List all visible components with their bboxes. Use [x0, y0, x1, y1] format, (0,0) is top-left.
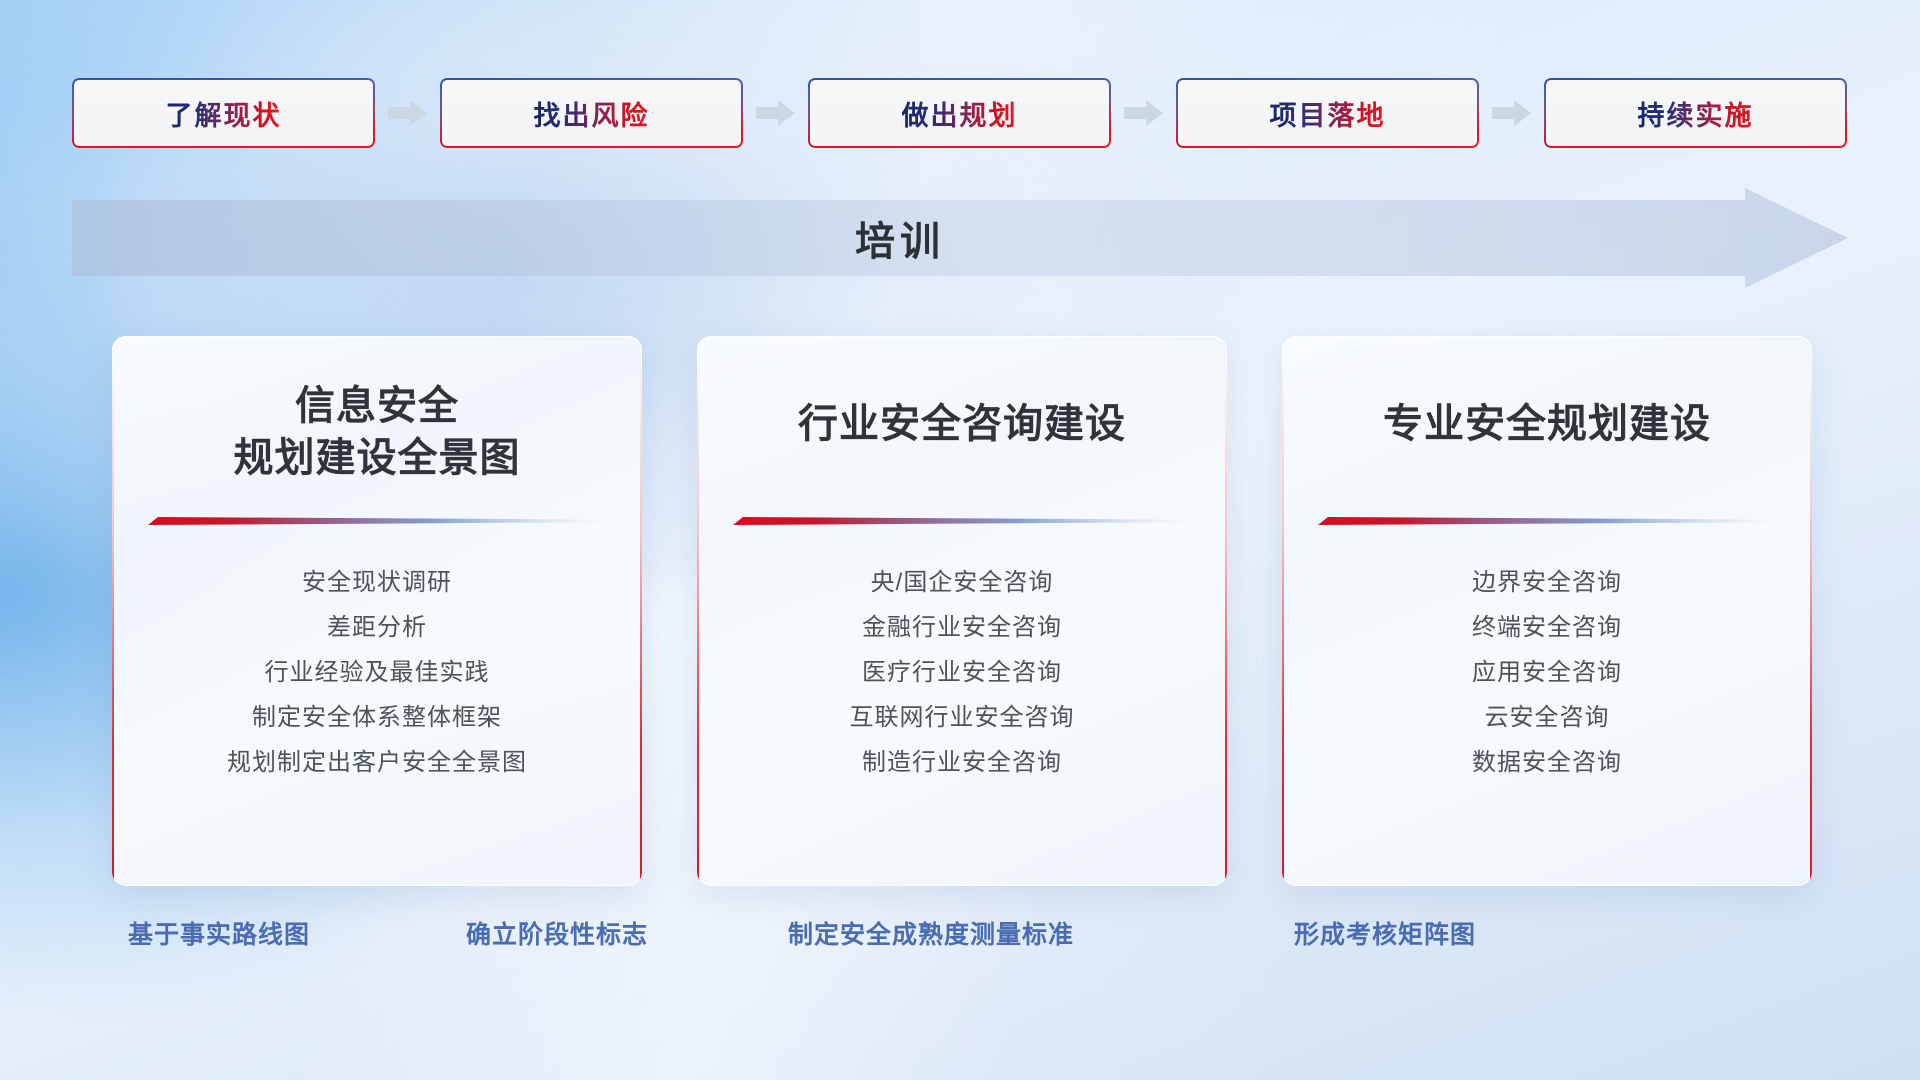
list-item: 数据安全咨询 [1306, 740, 1788, 785]
process-step-row: 了解现状找出风险做出规划项目落地持续实施 [72, 78, 1848, 148]
step-label: 做出规划 [902, 94, 1018, 133]
gradient-divider-icon [148, 514, 606, 530]
step-label: 了解现状 [166, 94, 282, 133]
step-box-5[interactable]: 持续实施 [1544, 78, 1847, 148]
arrow-right-icon [375, 78, 440, 148]
list-item: 差距分析 [136, 605, 618, 650]
card-title: 专业安全规划建设 [1282, 398, 1812, 450]
card-1[interactable]: 信息安全 规划建设全景图安全现状调研差距分析行业经验及最佳实践制定安全体系整体框… [112, 336, 642, 886]
gradient-divider-icon [733, 514, 1191, 530]
card-title: 信息安全 规划建设全景图 [112, 380, 642, 484]
step-box-3[interactable]: 做出规划 [808, 78, 1111, 148]
arrow-right-icon [1111, 78, 1176, 148]
arrow-right-icon [743, 78, 808, 148]
card-list: 央/国企安全咨询金融行业安全咨询医疗行业安全咨询互联网行业安全咨询制造行业安全咨… [721, 560, 1203, 786]
card-row: 信息安全 规划建设全景图安全现状调研差距分析行业经验及最佳实践制定安全体系整体框… [112, 336, 1812, 886]
list-item: 应用安全咨询 [1306, 650, 1788, 695]
card-2[interactable]: 行业安全咨询建设央/国企安全咨询金融行业安全咨询医疗行业安全咨询互联网行业安全咨… [697, 336, 1227, 886]
list-item: 云安全咨询 [1306, 695, 1788, 740]
card-list: 安全现状调研差距分析行业经验及最佳实践制定安全体系整体框架规划制定出客户安全全景… [136, 560, 618, 786]
card-title: 行业安全咨询建设 [697, 398, 1227, 450]
card-list: 边界安全咨询终端安全咨询应用安全咨询云安全咨询数据安全咨询 [1306, 560, 1788, 786]
list-item: 行业经验及最佳实践 [136, 650, 618, 695]
arrow-right-icon [1479, 78, 1544, 148]
footer-label-1: 基于事实路线图 [128, 915, 310, 951]
step-label: 找出风险 [534, 94, 650, 133]
list-item: 制造行业安全咨询 [721, 740, 1203, 785]
step-label: 持续实施 [1638, 94, 1754, 133]
footer-label-2: 确立阶段性标志 [466, 915, 648, 951]
step-box-4[interactable]: 项目落地 [1176, 78, 1479, 148]
card-3[interactable]: 专业安全规划建设边界安全咨询终端安全咨询应用安全咨询云安全咨询数据安全咨询 [1282, 336, 1812, 886]
footer-label-4: 形成考核矩阵图 [1294, 915, 1476, 951]
list-item: 医疗行业安全咨询 [721, 650, 1203, 695]
banner-label: 培训 [72, 188, 1848, 288]
slide-stage: 了解现状找出风险做出规划项目落地持续实施 培训 信息安全 规划建设全景图安全现状… [0, 0, 1920, 1080]
list-item: 边界安全咨询 [1306, 560, 1788, 605]
training-banner: 培训 [72, 188, 1848, 288]
list-item: 互联网行业安全咨询 [721, 695, 1203, 740]
footer-label-3: 制定安全成熟度测量标准 [788, 915, 1074, 951]
list-item: 规划制定出客户安全全景图 [136, 740, 618, 785]
step-box-2[interactable]: 找出风险 [440, 78, 743, 148]
footer-label-row: 基于事实路线图确立阶段性标志制定安全成熟度测量标准形成考核矩阵图 [0, 915, 1920, 961]
list-item: 制定安全体系整体框架 [136, 695, 618, 740]
list-item: 央/国企安全咨询 [721, 560, 1203, 605]
list-item: 安全现状调研 [136, 560, 618, 605]
step-label: 项目落地 [1270, 94, 1386, 133]
list-item: 终端安全咨询 [1306, 605, 1788, 650]
step-box-1[interactable]: 了解现状 [72, 78, 375, 148]
gradient-divider-icon [1318, 514, 1776, 530]
list-item: 金融行业安全咨询 [721, 605, 1203, 650]
